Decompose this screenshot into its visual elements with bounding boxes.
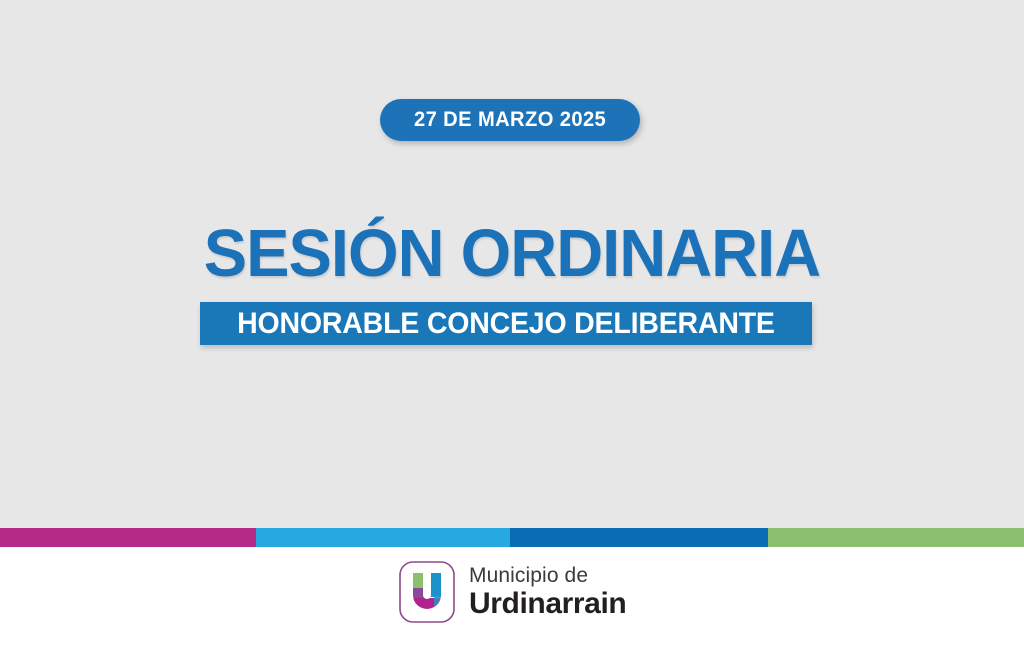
- color-segment-dark-blue: [510, 528, 768, 547]
- logo-line-municipio: Municipio de: [469, 565, 626, 586]
- page-title: SESIÓN ORDINARIA: [0, 218, 1024, 290]
- color-divider-bar: [0, 528, 1024, 547]
- municipio-urdinarrain-u-logo-icon: [398, 560, 456, 624]
- color-segment-light-blue: [256, 528, 510, 547]
- logo-wordmark: Municipio de Urdinarrain: [469, 565, 626, 619]
- logo-line-urdinarrain: Urdinarrain: [469, 589, 626, 619]
- municipality-logo-lockup: Municipio de Urdinarrain: [398, 560, 626, 624]
- subtitle-text: HONORABLE CONCEJO DELIBERANTE: [237, 307, 775, 341]
- color-segment-green: [768, 528, 1024, 547]
- subtitle-band: HONORABLE CONCEJO DELIBERANTE: [200, 302, 812, 345]
- date-badge: 27 DE MARZO 2025: [380, 99, 640, 141]
- presentation-slide: 27 DE MARZO 2025 SESIÓN ORDINARIA HONORA…: [0, 0, 1024, 660]
- slide-footer: Municipio de Urdinarrain: [0, 547, 1024, 660]
- color-segment-magenta: [0, 528, 256, 547]
- date-badge-label: 27 DE MARZO 2025: [414, 108, 606, 132]
- main-title-text: SESIÓN ORDINARIA: [15, 218, 1008, 290]
